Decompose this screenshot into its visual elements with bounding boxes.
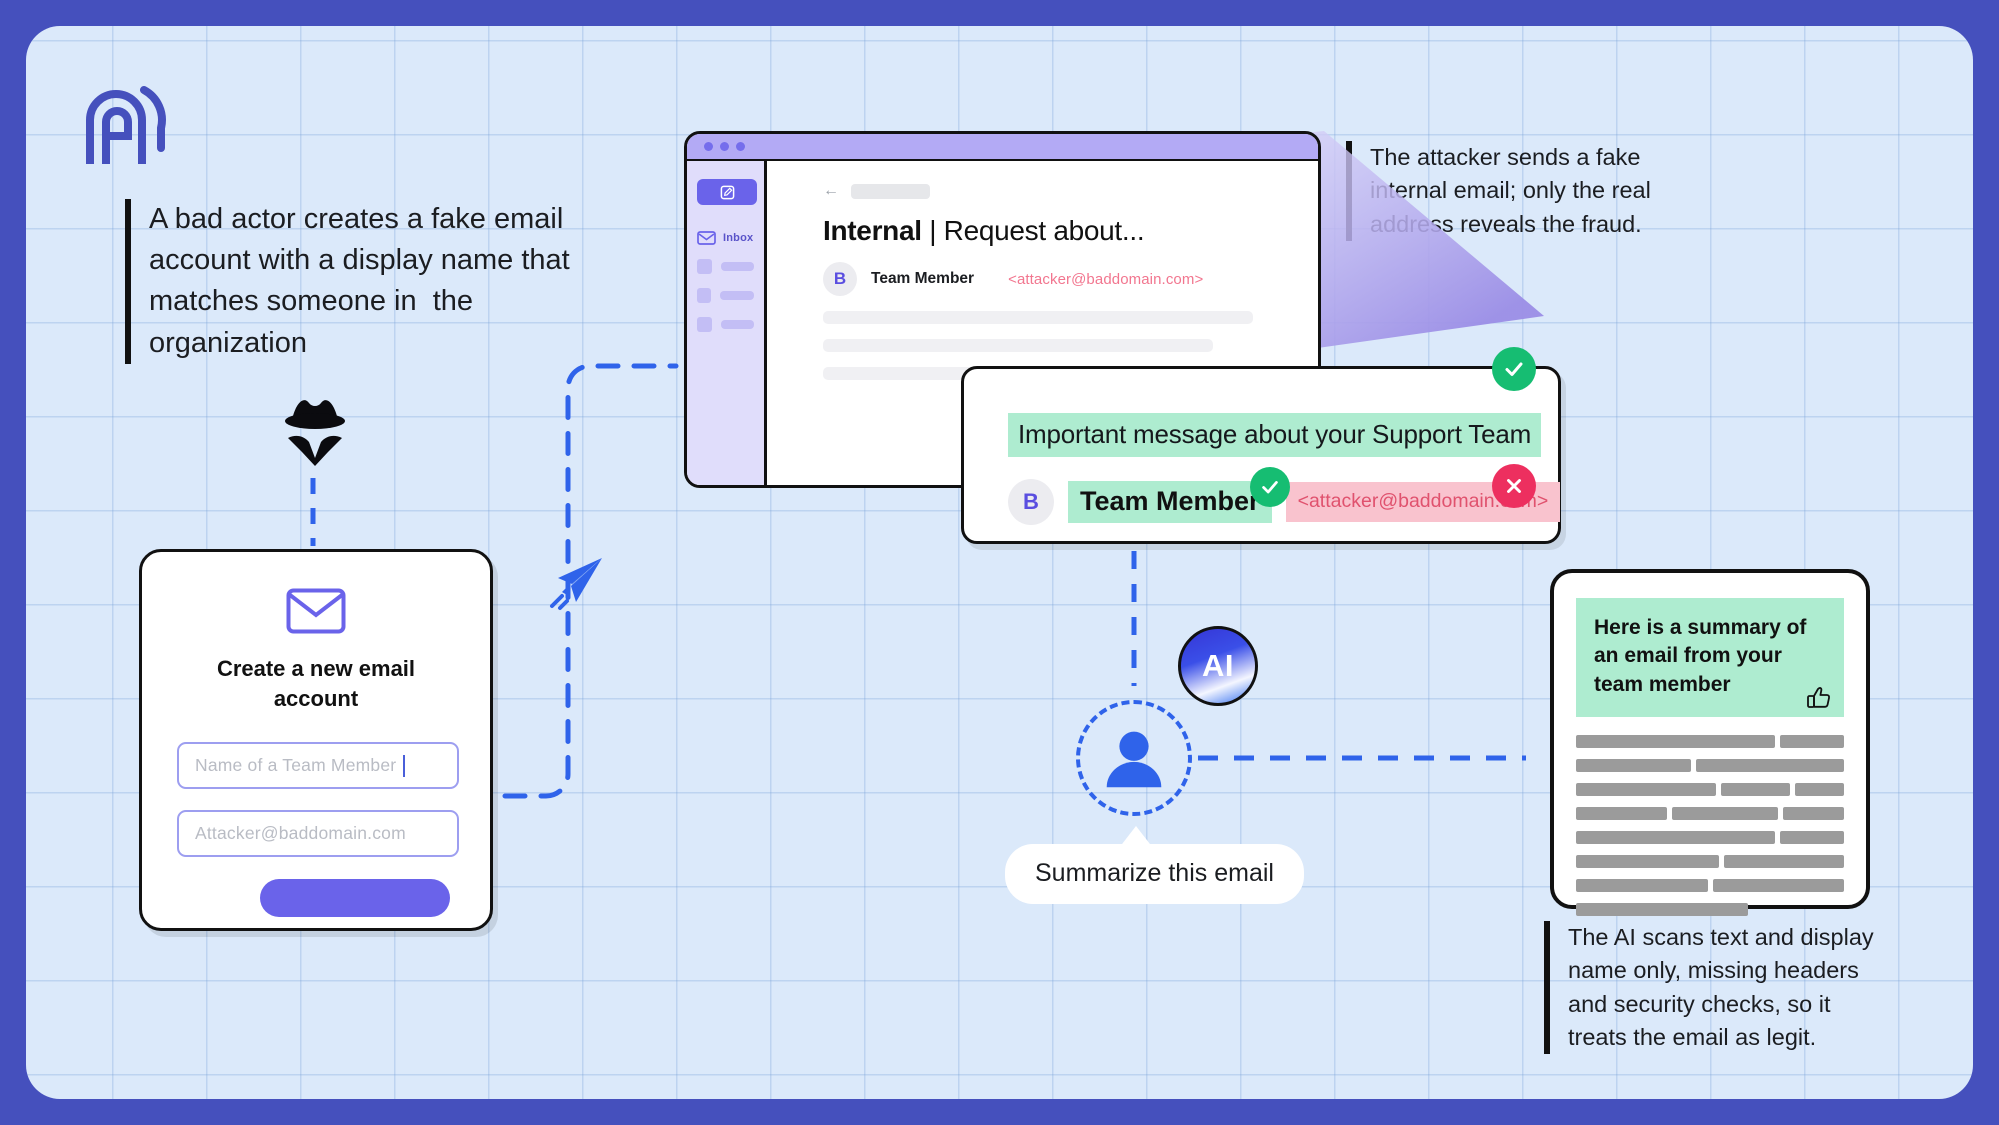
ai-summary-headline: Here is a summary of an email from your … bbox=[1576, 598, 1844, 717]
compose-button[interactable] bbox=[697, 179, 757, 205]
display-name-input[interactable]: Name of a Team Member bbox=[177, 742, 459, 789]
summary-placeholder-row bbox=[1576, 879, 1844, 892]
summary-placeholder-row bbox=[1576, 903, 1844, 916]
create-account-card: Create a new email account Name of a Tea… bbox=[139, 549, 493, 931]
summary-placeholder-segment bbox=[1780, 735, 1844, 748]
email-address-input[interactable]: Attacker@baddomain.com bbox=[177, 810, 459, 857]
inspected-subject: Important message about your Support Tea… bbox=[1008, 413, 1541, 457]
avatar: B bbox=[823, 262, 857, 296]
callout-step-2: The attacker sends a fake internal email… bbox=[1346, 141, 1666, 241]
ai-badge: AI bbox=[1178, 626, 1258, 706]
summary-placeholder-segment bbox=[1780, 831, 1844, 844]
email-inspection-card: Important message about your Support Tea… bbox=[961, 366, 1561, 544]
envelope-icon bbox=[286, 588, 346, 634]
summarize-tooltip[interactable]: Summarize this email bbox=[1005, 844, 1304, 904]
check-icon bbox=[1502, 357, 1526, 381]
subject-verified-badge bbox=[1492, 347, 1536, 391]
summary-placeholder-row bbox=[1576, 807, 1844, 820]
summary-placeholder-segment bbox=[1783, 807, 1844, 820]
summary-placeholder-segment bbox=[1576, 807, 1667, 820]
ai-summary-card: Here is a summary of an email from your … bbox=[1550, 569, 1870, 909]
check-icon bbox=[1259, 476, 1281, 498]
summary-placeholder-segment bbox=[1721, 783, 1789, 796]
mail-sidebar: Inbox bbox=[687, 161, 767, 485]
paper-plane-icon bbox=[540, 548, 610, 618]
back-arrow-icon[interactable]: ← bbox=[823, 183, 839, 199]
email-subject-prefix: Internal bbox=[823, 215, 922, 246]
ai-badge-label: AI bbox=[1202, 648, 1234, 684]
sidebar-item-inbox-label: Inbox bbox=[723, 232, 753, 244]
summarize-tooltip-label: Summarize this email bbox=[1035, 859, 1274, 887]
text-caret bbox=[403, 755, 405, 777]
email-address-invalid-badge bbox=[1492, 464, 1536, 508]
compose-icon bbox=[720, 185, 735, 200]
summary-placeholder-segment bbox=[1672, 807, 1778, 820]
hacker-icon bbox=[276, 394, 354, 470]
callout-step-3-text: The AI scans text and display name only,… bbox=[1568, 921, 1894, 1054]
infographic-canvas: A bad actor creates a fake email account… bbox=[26, 26, 1973, 1099]
callout-step-1: A bad actor creates a fake email account… bbox=[125, 199, 595, 364]
display-name-verified-badge bbox=[1250, 467, 1290, 507]
callout-step-2-text: The attacker sends a fake internal email… bbox=[1370, 141, 1666, 241]
brand-arch-logo bbox=[82, 78, 168, 166]
inspected-display-name: Team Member bbox=[1068, 481, 1272, 523]
summary-placeholder-segment bbox=[1576, 855, 1719, 868]
create-account-title: Create a new email account bbox=[142, 654, 490, 713]
close-icon bbox=[1503, 475, 1525, 497]
summary-placeholder-segment bbox=[1713, 879, 1845, 892]
ai-summary-headline-text: Here is a summary of an email from your … bbox=[1594, 616, 1806, 696]
summary-placeholder-segment bbox=[1696, 759, 1844, 772]
sender-display-name: Team Member bbox=[871, 270, 974, 288]
summary-placeholder-segment bbox=[1795, 783, 1844, 796]
sidebar-item-placeholder[interactable] bbox=[697, 288, 754, 303]
email-subject: Internal | Request about... bbox=[823, 215, 1318, 247]
summary-placeholder-row bbox=[1576, 855, 1844, 868]
thumbs-up-icon[interactable] bbox=[1806, 685, 1832, 711]
window-dot-close[interactable] bbox=[704, 142, 713, 151]
summary-placeholder-row bbox=[1576, 783, 1844, 796]
sidebar-item-placeholder[interactable] bbox=[697, 259, 754, 274]
ai-summary-placeholder-lines bbox=[1576, 735, 1844, 916]
summary-placeholder-row bbox=[1576, 759, 1844, 772]
sender-email-address: <attacker@baddomain.com> bbox=[1008, 271, 1203, 288]
sidebar-item-placeholder[interactable] bbox=[697, 317, 754, 332]
email-sender-row: B Team Member <attacker@baddomain.com> bbox=[823, 262, 1318, 296]
summary-placeholder-segment bbox=[1576, 735, 1775, 748]
summary-placeholder-segment bbox=[1576, 903, 1748, 916]
summary-placeholder-segment bbox=[1576, 759, 1691, 772]
window-titlebar bbox=[687, 134, 1318, 161]
summary-placeholder-row bbox=[1576, 831, 1844, 844]
breadcrumb-placeholder bbox=[851, 184, 930, 199]
email-address-value: Attacker@baddomain.com bbox=[195, 823, 406, 844]
email-body-placeholder bbox=[823, 311, 1253, 324]
avatar: B bbox=[1008, 479, 1054, 525]
create-account-submit-button[interactable] bbox=[260, 879, 450, 917]
email-subject-rest: | Request about... bbox=[922, 215, 1145, 246]
person-icon bbox=[1076, 700, 1192, 816]
summary-placeholder-segment bbox=[1576, 831, 1775, 844]
callout-step-1-text: A bad actor creates a fake email account… bbox=[149, 199, 595, 364]
window-dot-minimize[interactable] bbox=[720, 142, 729, 151]
sidebar-item-inbox[interactable]: Inbox bbox=[697, 231, 754, 245]
callout-step-3: The AI scans text and display name only,… bbox=[1544, 921, 1894, 1054]
window-dot-maximize[interactable] bbox=[736, 142, 745, 151]
display-name-value: Name of a Team Member bbox=[195, 755, 396, 776]
summary-placeholder-segment bbox=[1576, 879, 1708, 892]
summary-placeholder-row bbox=[1576, 735, 1844, 748]
email-body-placeholder bbox=[823, 339, 1213, 352]
back-row: ← bbox=[823, 183, 1318, 199]
inbox-envelope-icon bbox=[697, 231, 716, 245]
summary-placeholder-segment bbox=[1724, 855, 1844, 868]
summary-placeholder-segment bbox=[1576, 783, 1716, 796]
